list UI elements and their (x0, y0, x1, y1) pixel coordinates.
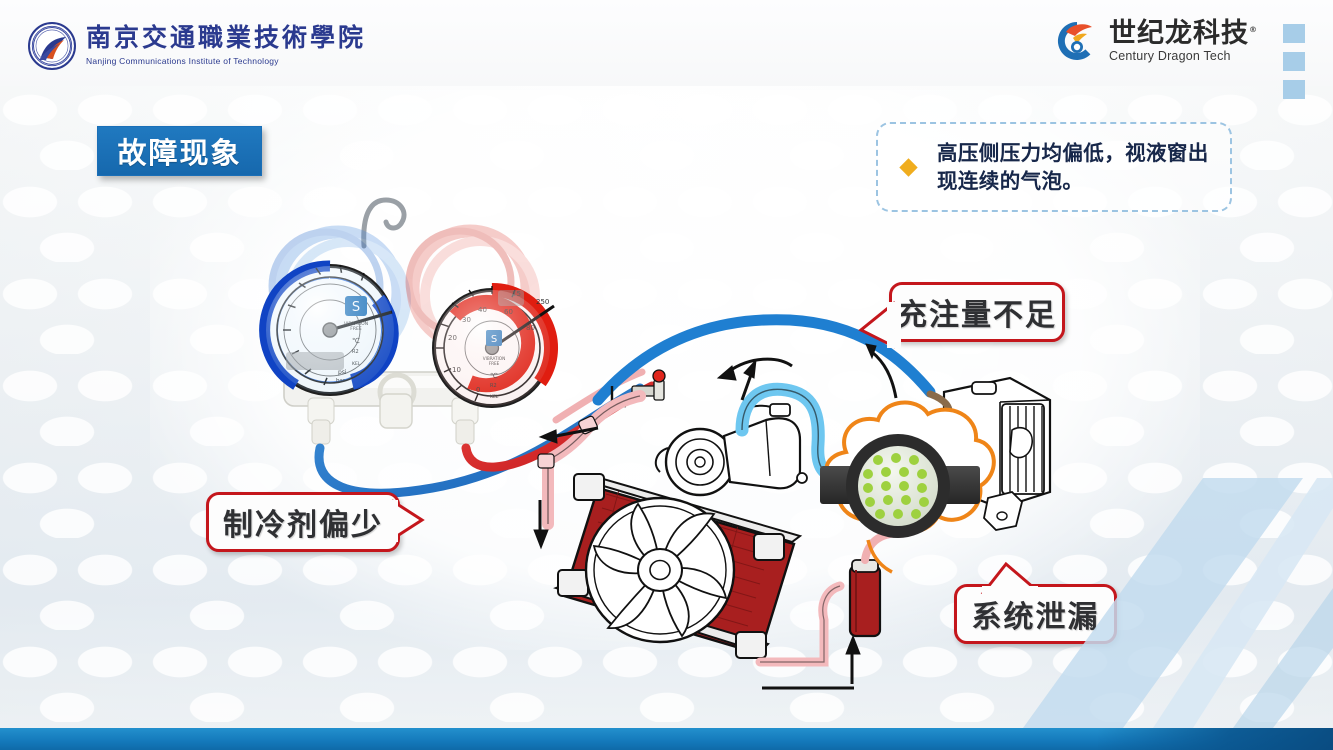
high-pressure-gauge-red: 3040 6080 25015 2010 0 S VIBRATION FREE … (434, 286, 554, 406)
svg-text:R2: R2 (352, 349, 359, 355)
callout-low-refrigerant[interactable]: 制冷剂偏少 (206, 492, 400, 552)
svg-text:40: 40 (478, 306, 487, 314)
svg-text:15: 15 (512, 290, 521, 298)
symptom-info-box: 高压侧压力均偏低，视液窗出现连续的气泡。 (876, 122, 1232, 212)
company-name-cn-text: 世纪龙科技 (1109, 18, 1249, 49)
svg-text:20: 20 (448, 334, 457, 342)
drier-outlet-line (865, 534, 900, 560)
svg-text:VIBRATION: VIBRATION (483, 356, 505, 361)
university-name-en: Nanjing Communications Institute of Tech… (86, 56, 366, 66)
sight-glass-window (858, 446, 938, 526)
low-pressure-gauge-blue: S VIBRATION FREE ℃ R2 KEL psi bar (265, 265, 394, 394)
university-logo: 南京交通職業技術學院 Nanjing Communications Instit… (28, 22, 366, 70)
low-gauge-motion-ghost (272, 232, 406, 358)
company-logo: 世纪龙科技® Century Dragon Tech (1054, 18, 1258, 64)
evaporator-unit (934, 378, 1050, 530)
company-name-cn: 世纪龙科技® (1109, 20, 1258, 47)
low-gauge-reflection (286, 352, 344, 370)
slide-root: 南京交通職業技術學院 Nanjing Communications Instit… (0, 0, 1333, 750)
svg-text:30: 30 (462, 316, 471, 324)
svg-text:R2: R2 (490, 383, 497, 389)
receiver-drier (850, 560, 880, 636)
registered-mark-icon: ® (1249, 25, 1258, 34)
service-valve (612, 370, 665, 406)
manifold-blue-hose (319, 388, 640, 493)
decor-square-stack (1283, 24, 1305, 99)
callout-charge-insufficient[interactable]: 充注量不足 (889, 282, 1065, 342)
flow-arrows (534, 344, 896, 688)
condenser-to-drier-line (760, 586, 840, 662)
callout-leak-label: 系统泄漏 (972, 592, 1100, 636)
svg-text:0: 0 (476, 386, 480, 394)
svg-text:℃: ℃ (490, 372, 498, 380)
decor-square-3 (1283, 80, 1305, 99)
high-gauge-reflection (498, 290, 524, 306)
svg-text:KEL: KEL (352, 361, 361, 367)
high-gauge-brand-badge (486, 330, 502, 346)
suction-hose (742, 389, 846, 478)
sight-glass-magnifier (820, 403, 994, 572)
manifold-port-right (452, 398, 478, 444)
svg-text:psi: psi (338, 369, 347, 376)
callout-charge-label: 充注量不足 (897, 290, 1057, 334)
page-title-label: 故障现象 (117, 130, 241, 172)
svg-text:S: S (491, 334, 497, 345)
decor-square-2 (1283, 52, 1305, 71)
svg-text:S: S (352, 300, 360, 315)
high-gauge-motion-ghost (409, 231, 535, 351)
discharge-line-fittings (538, 415, 598, 468)
discharge-line (548, 396, 640, 524)
hanging-hook (364, 200, 404, 246)
svg-text:FREE: FREE (350, 326, 362, 332)
manifold-body (284, 372, 510, 444)
condenser (556, 474, 800, 658)
svg-text:℃: ℃ (352, 337, 360, 345)
university-seal-icon (28, 22, 76, 70)
svg-text:bar: bar (336, 378, 346, 384)
manifold-pink-hose (556, 372, 642, 420)
bottom-accent-bar (0, 728, 1333, 750)
expansion-valve (906, 424, 928, 442)
compressor (656, 404, 807, 495)
slide-header: 南京交通職業技術學院 Nanjing Communications Instit… (0, 0, 1333, 86)
callout-system-leak[interactable]: 系统泄漏 (954, 584, 1117, 644)
low-pressure-line (598, 320, 930, 400)
decor-square-1 (1283, 24, 1305, 43)
sight-glass-ring (846, 434, 950, 538)
sight-glass-band (820, 466, 980, 504)
sight-glass-bubbles (863, 453, 929, 519)
evaporator-inlet-fitting (930, 394, 949, 418)
cloud-callout-tail (868, 540, 892, 572)
cooling-fan (586, 498, 734, 642)
university-name-cn: 南京交通職業技術學院 (86, 26, 366, 52)
manifold-gauge-set: S VIBRATION FREE ℃ R2 KEL psi bar (265, 200, 652, 493)
manifold-red-hose (466, 386, 652, 467)
century-dragon-circle-icon (1054, 18, 1100, 64)
company-name-en: Century Dragon Tech (1109, 49, 1258, 63)
seal-wing-icon (39, 35, 69, 61)
manifold-port-left (308, 398, 334, 444)
svg-text:60: 60 (504, 308, 513, 316)
svg-text:FREE: FREE (489, 361, 500, 366)
svg-text:VIBRATION: VIBRATION (344, 321, 368, 327)
ac-system-diagram: S VIBRATION FREE ℃ R2 KEL psi bar (0, 0, 1333, 750)
cloud-callout-shape (826, 403, 993, 533)
diamond-bullet-icon (899, 158, 917, 176)
svg-text:80: 80 (526, 324, 535, 332)
svg-text:10: 10 (452, 366, 461, 374)
page-title: 故障现象 (97, 126, 262, 176)
callout-refrigerant-label: 制冷剂偏少 (223, 500, 383, 544)
symptom-text: 高压侧压力均偏低，视液窗出现连续的气泡。 (937, 139, 1214, 196)
svg-text:250: 250 (536, 298, 549, 306)
svg-text:KEL: KEL (490, 394, 499, 400)
low-gauge-brand-badge (345, 296, 367, 316)
